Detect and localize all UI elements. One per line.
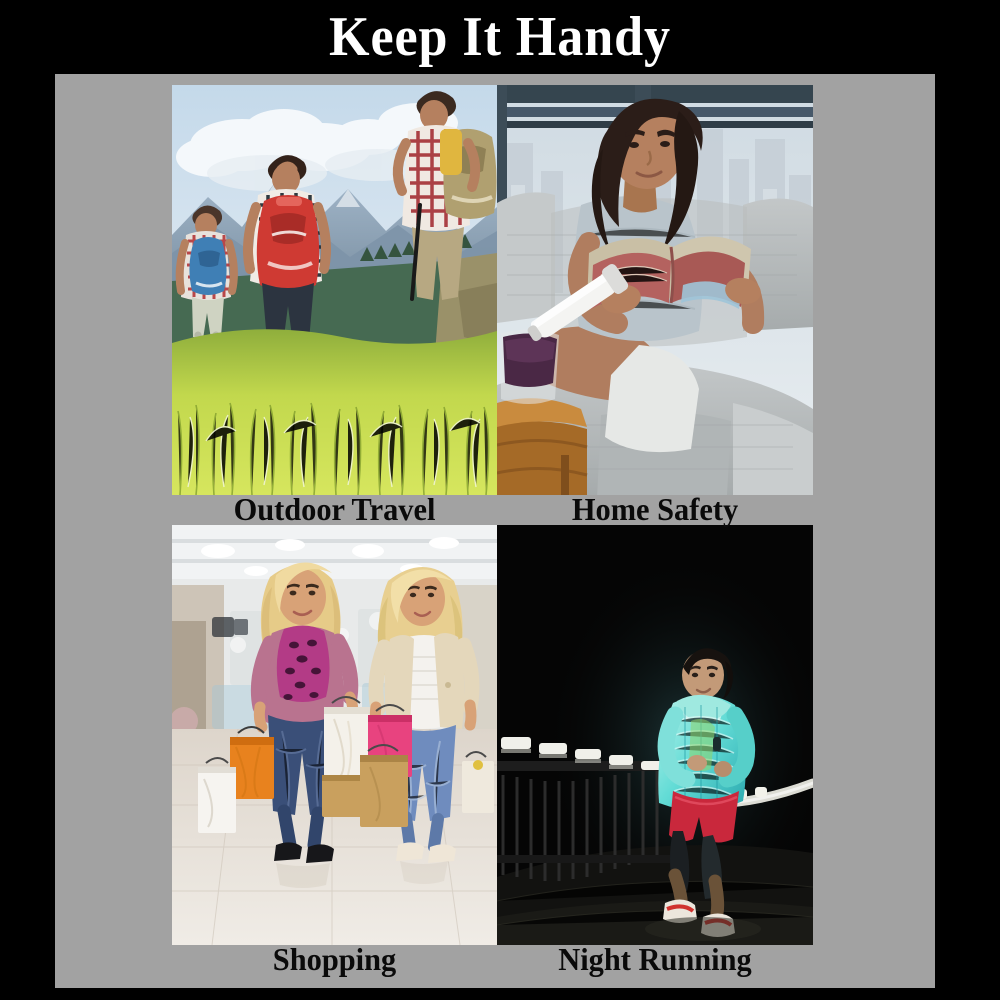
caption-home-safety: Home Safety [505,492,805,526]
night-running-illustration [497,525,813,945]
caption-outdoor-travel: Outdoor Travel [180,492,489,526]
page-title: Keep It Handy [35,6,965,68]
caption-shopping: Shopping [180,942,489,976]
image-shopping [172,525,497,945]
shopping-illustration [172,525,497,945]
image-home-safety [497,85,813,495]
caption-night-running: Night Running [505,942,805,976]
outdoor-travel-illustration [172,85,497,495]
poster-root: Keep It Handy [0,0,1000,1000]
home-safety-illustration [497,85,813,495]
image-night-running [497,525,813,945]
image-outdoor-travel [172,85,497,495]
collage-panel: Outdoor Travel Home Safety Shopping Nigh… [55,74,935,988]
